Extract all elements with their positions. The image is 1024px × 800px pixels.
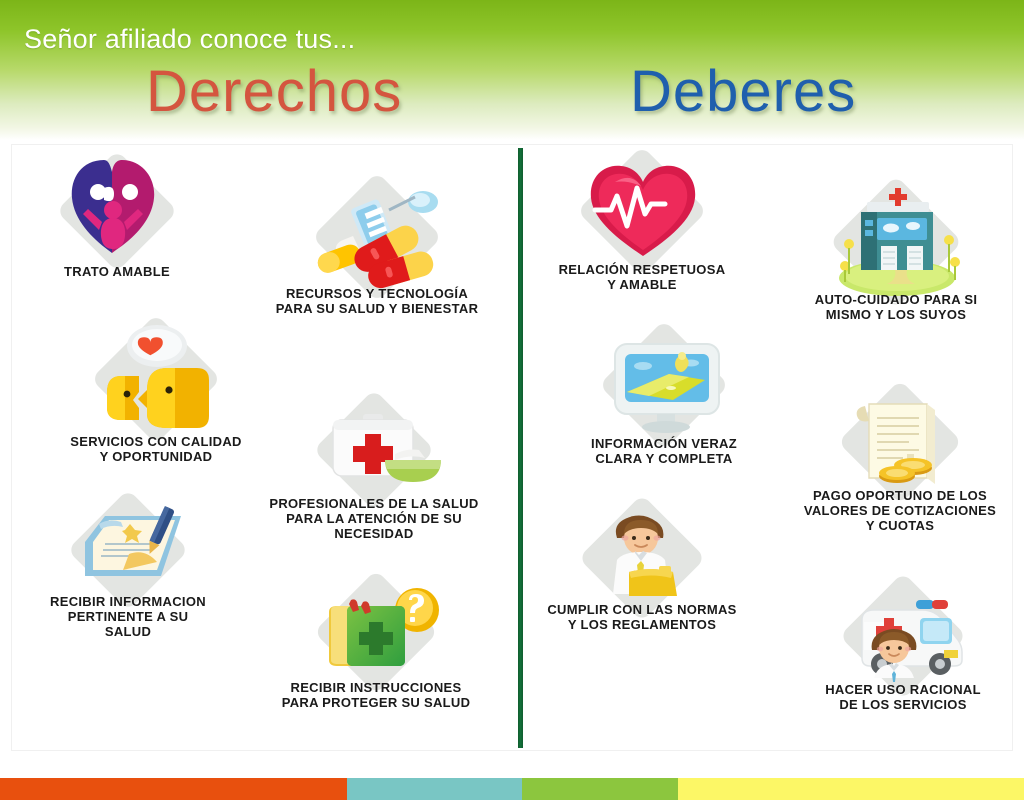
caption: SERVICIOS CON CALIDAD Y OPORTUNIDAD — [46, 434, 266, 464]
hospital-building-icon — [809, 186, 984, 298]
card-pago-oportuno: PAGO OPORTUNO DE LOS VALORES DE COTIZACI… — [780, 396, 1020, 533]
card-relacion-respetuosa: RELACIÓN RESPETUOSA Y AMABLE — [524, 156, 760, 292]
card-cumplir-normas: CUMPLIR CON LAS NORMAS Y LOS REGLAMENTOS — [524, 510, 760, 632]
bar-segment-orange — [0, 778, 347, 800]
header-banner: Señor afiliado conoce tus... Derechos De… — [0, 0, 1024, 140]
caption: CUMPLIR CON LAS NORMAS Y LOS REGLAMENTOS — [524, 602, 760, 632]
card-recursos-tecnologia: RECURSOS Y TECNOLOGÍA PARA SU SALUD Y BI… — [262, 186, 492, 316]
bar-segment-teal — [347, 778, 522, 800]
caption: INFORMACIÓN VERAZ CLARA Y COMPLETA — [556, 436, 772, 466]
bottom-color-bar — [0, 778, 1024, 800]
card-auto-cuidado: AUTO-CUIDADO PARA SI MISMO Y LOS SUYOS — [784, 186, 1008, 322]
card-profesionales-salud: PROFESIONALES DE LA SALUD PARA LA ATENCI… — [250, 404, 498, 541]
caption: PROFESIONALES DE LA SALUD PARA LA ATENCI… — [250, 496, 498, 541]
caption: RECIBIR INFORMACION PERTINENTE A SU SALU… — [22, 594, 234, 639]
caption: AUTO-CUIDADO PARA SI MISMO Y LOS SUYOS — [784, 292, 1008, 322]
ambulance-doctor-icon — [816, 588, 991, 684]
syringe-pills-icon — [297, 186, 457, 288]
header-kicker: Señor afiliado conoce tus... — [24, 24, 355, 55]
card-servicios-calidad: SERVICIOS CON CALIDAD Y OPORTUNIDAD — [46, 324, 266, 464]
first-aid-kit-mortar-icon — [289, 404, 459, 496]
caption: RELACIÓN RESPETUOSA Y AMABLE — [524, 262, 760, 292]
card-informacion-veraz: INFORMACIÓN VERAZ CLARA Y COMPLETA — [556, 330, 772, 466]
caption: PAGO OPORTUNO DE LOS VALORES DE COTIZACI… — [780, 488, 1020, 533]
card-recibir-informacion: RECIBIR INFORMACION PERTINENTE A SU SALU… — [22, 504, 234, 639]
column-divider — [518, 148, 523, 748]
infographic-root: Señor afiliado conoce tus... Derechos De… — [0, 0, 1024, 800]
title-deberes: Deberes — [630, 58, 856, 125]
caption: RECIBIR INSTRUCCIONES PARA PROTEGER SU S… — [258, 680, 494, 710]
monitor-screen-icon — [577, 330, 752, 440]
bar-segment-yellow — [678, 778, 1024, 800]
card-recibir-instrucciones: RECIBIR INSTRUCCIONES PARA PROTEGER SU S… — [258, 584, 494, 710]
family-heart-puzzle-icon — [42, 152, 192, 270]
caption: HACER USO RACIONAL DE LOS SERVICIOS — [790, 682, 1016, 712]
card-hacer-uso-racional: HACER USO RACIONAL DE LOS SERVICIOS — [790, 588, 1016, 712]
heart-pulse-icon — [555, 156, 730, 266]
caption: RECURSOS Y TECNOLOGÍA PARA SU SALUD Y BI… — [262, 286, 492, 316]
clipboard-pen-icon — [41, 504, 216, 596]
caption: TRATO AMABLE — [22, 264, 212, 279]
green-book-question-icon — [289, 584, 464, 680]
card-trato-amable: TRATO AMABLE — [22, 152, 212, 279]
title-derechos: Derechos — [146, 58, 402, 125]
bar-segment-green — [522, 778, 678, 800]
two-faces-heart-icon — [69, 324, 244, 434]
doctor-folder-icon — [555, 510, 730, 606]
invoice-coins-icon — [813, 396, 988, 488]
